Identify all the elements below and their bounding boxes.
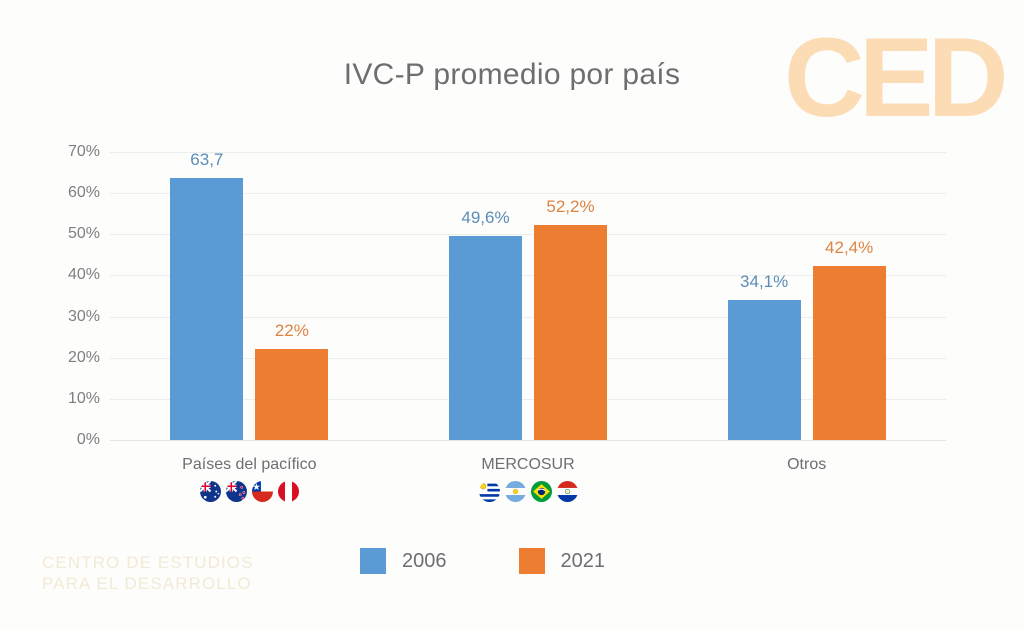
chart-legend: 20062021	[360, 548, 605, 574]
footer-watermark-line1: CENTRO DE ESTUDIOS	[42, 552, 254, 573]
legend-swatch	[519, 548, 545, 574]
flag-australia-icon	[200, 481, 221, 502]
x-axis-category: MERCOSUR	[398, 456, 658, 502]
y-axis-tick-label: 70%	[40, 143, 100, 161]
bar-2006-1[interactable]	[170, 178, 243, 440]
x-axis-category-label: Otros	[677, 456, 937, 474]
legend-item-2021[interactable]: 2021	[519, 548, 606, 574]
slide-canvas: CED IVC-P promedio por país 70%60%50%40%…	[0, 0, 1024, 630]
y-axis-tick-label: 40%	[40, 266, 100, 284]
bar-value-label: 42,4%	[793, 238, 906, 258]
flag-peru-icon	[278, 481, 299, 502]
bar-2006-2[interactable]	[449, 236, 522, 440]
bar-2006-3[interactable]	[728, 300, 801, 440]
flag-uruguay-icon	[479, 481, 500, 502]
x-axis-category: Países del pacífico	[119, 456, 379, 502]
y-axis-tick-label: 20%	[40, 349, 100, 367]
legend-swatch	[360, 548, 386, 574]
legend-item-2006[interactable]: 2006	[360, 548, 447, 574]
y-axis-tick-label: 30%	[40, 308, 100, 326]
flag-paraguay-icon	[557, 481, 578, 502]
bar-value-label: 63,7	[150, 150, 263, 170]
bar-value-label: 22%	[235, 321, 348, 341]
flag-brazil-icon	[531, 481, 552, 502]
bar-2021-3[interactable]	[813, 266, 886, 440]
bar-2021-1[interactable]	[255, 349, 328, 440]
bar-value-label: 52,2%	[514, 197, 627, 217]
country-flag-group	[119, 481, 379, 502]
flag-argentina-icon	[505, 481, 526, 502]
footer-watermark: CENTRO DE ESTUDIOS PARA EL DESARROLLO	[42, 552, 254, 594]
flag-chile-icon	[252, 481, 273, 502]
legend-label: 2021	[561, 550, 606, 573]
bar-2021-2[interactable]	[534, 225, 607, 440]
country-flag-group	[398, 481, 658, 502]
gridline	[110, 440, 946, 441]
y-axis-tick-label: 10%	[40, 390, 100, 408]
x-axis-category-label: MERCOSUR	[398, 456, 658, 474]
y-axis-tick-label: 60%	[40, 184, 100, 202]
bar-value-label: 34,1%	[708, 272, 821, 292]
x-axis-category: Otros	[677, 456, 937, 474]
flag-new-zealand-icon	[226, 481, 247, 502]
y-axis-tick-label: 0%	[40, 431, 100, 449]
legend-label: 2006	[402, 550, 447, 573]
x-axis-category-label: Países del pacífico	[119, 456, 379, 474]
chart-title: IVC-P promedio por país	[0, 58, 1024, 92]
footer-watermark-line2: PARA EL DESARROLLO	[42, 573, 254, 594]
y-axis-tick-label: 50%	[40, 225, 100, 243]
